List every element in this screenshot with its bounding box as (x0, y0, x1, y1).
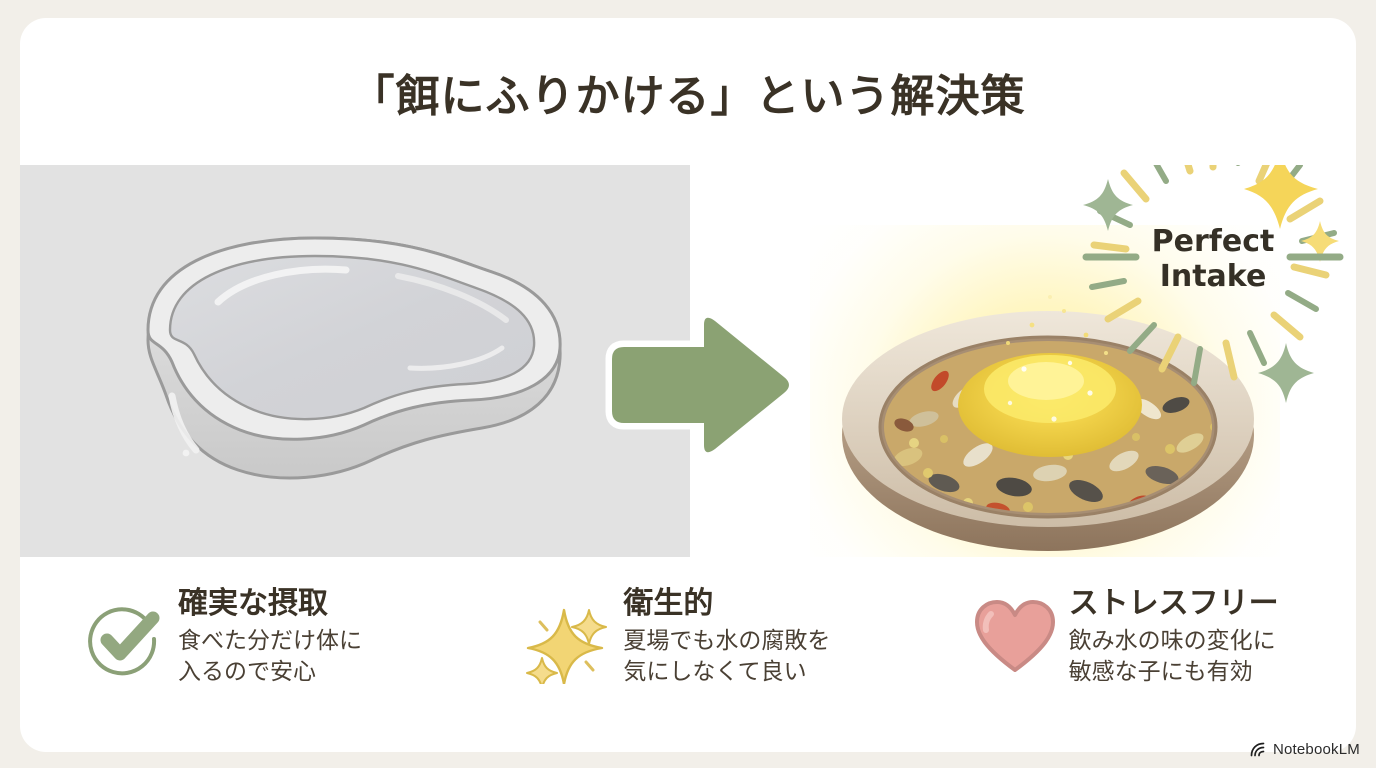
feature-text: 衛生的 夏場でも水の腐敗を 気にしなくて良い (617, 584, 830, 688)
feature-desc-line-2: 入るので安心 (178, 657, 362, 688)
badge-line-2: Intake (1160, 260, 1267, 295)
slide-root: 「餌にふりかける」という解決策 (0, 0, 1376, 768)
feature-title: 衛生的 (623, 586, 830, 621)
feature-desc-line-1: 飲み水の味の変化に (1069, 626, 1279, 657)
media-band: Perfect Intake (20, 165, 1356, 557)
feature-description: 食べた分だけ体に 入るので安心 (178, 626, 362, 688)
watermark-label: NotebookLM (1273, 741, 1360, 758)
feature-item-stress-free: ストレスフリー 飲み水の味の変化に 敏感な子にも有効 (911, 584, 1356, 752)
feature-desc-line-1: 夏場でも水の腐敗を (623, 626, 830, 657)
notebooklm-logo-icon (1250, 742, 1267, 757)
feature-text: 確実な摂取 食べた分だけ体に 入るので安心 (172, 584, 362, 688)
notebooklm-watermark: NotebookLM (1250, 741, 1360, 758)
feature-title: ストレスフリー (1069, 586, 1279, 621)
before-image-panel (20, 165, 690, 557)
feature-item-certain-intake: 確実な摂取 食べた分だけ体に 入るので安心 (20, 584, 465, 752)
feature-item-hygienic: 衛生的 夏場でも水の腐敗を 気にしなくて良い (465, 584, 910, 752)
water-bowl-illustration (110, 220, 580, 520)
check-circle-icon (76, 584, 172, 680)
page-title: 「餌にふりかける」という解決策 (351, 60, 1026, 124)
feature-list: 確実な摂取 食べた分だけ体に 入るので安心 (20, 584, 1356, 752)
title-bar: 「餌にふりかける」という解決策 (20, 18, 1356, 165)
feature-title: 確実な摂取 (178, 586, 362, 621)
feature-description: 夏場でも水の腐敗を 気にしなくて良い (623, 626, 830, 688)
badge-line-1: Perfect (1152, 225, 1275, 260)
perfect-intake-badge: Perfect Intake (1068, 205, 1356, 315)
feature-desc-line-2: 敏感な子にも有効 (1069, 657, 1279, 688)
content-card: 「餌にふりかける」という解決策 (20, 18, 1356, 752)
feature-description: 飲み水の味の変化に 敏感な子にも有効 (1069, 626, 1279, 688)
after-image-panel: Perfect Intake (710, 165, 1356, 557)
sparkles-icon (521, 584, 617, 684)
heart-icon (967, 584, 1063, 676)
feature-text: ストレスフリー 飲み水の味の変化に 敏感な子にも有効 (1063, 584, 1279, 688)
feature-desc-line-2: 気にしなくて良い (623, 657, 830, 688)
feature-desc-line-1: 食べた分だけ体に (178, 626, 362, 657)
